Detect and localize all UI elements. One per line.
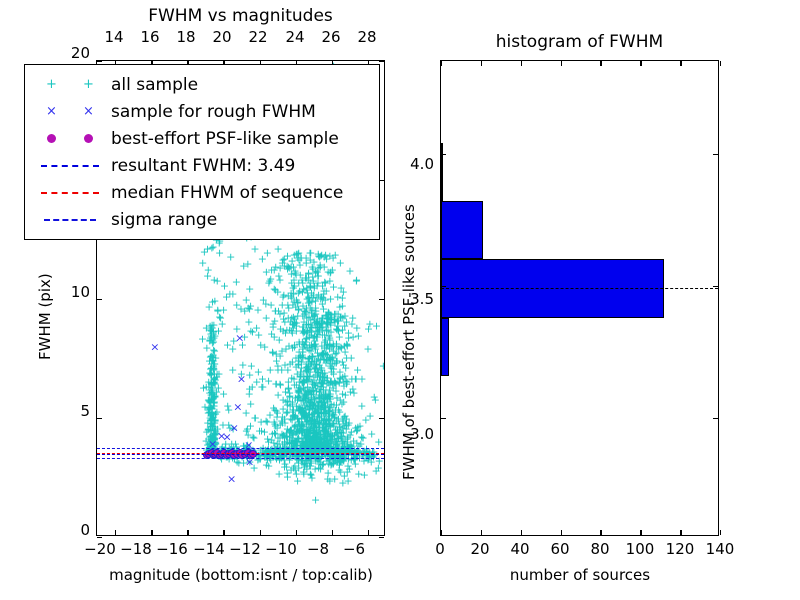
x-ticklabel: 140 xyxy=(701,540,739,558)
scatter-point-all-sample: + xyxy=(282,324,291,335)
y-tick xyxy=(441,154,446,155)
scatter-point-all-sample: + xyxy=(326,355,335,366)
top-ticklabel: 16 xyxy=(136,28,164,46)
scatter-point-all-sample: + xyxy=(339,287,348,298)
scatter-point-all-sample: + xyxy=(205,388,214,399)
scatter-point-all-sample: + xyxy=(294,359,303,370)
scatter-point-all-sample: + xyxy=(243,258,252,269)
left-panel-xlabel: magnitude (bottom:isnt / top:calib) xyxy=(76,566,406,584)
reference-line-dashdot xyxy=(97,458,384,459)
x-tick-top xyxy=(680,61,681,66)
scatter-point-all-sample: + xyxy=(320,277,329,288)
top-ticklabel: 18 xyxy=(172,28,200,46)
scatter-point-all-sample: + xyxy=(316,322,325,333)
top-ticklabel: 24 xyxy=(281,28,309,46)
scatter-point-all-sample: + xyxy=(336,312,345,323)
x-tick xyxy=(332,530,333,535)
scatter-point-all-sample: + xyxy=(335,377,344,388)
x-ticklabel: 60 xyxy=(545,540,575,558)
x-tick xyxy=(720,530,721,535)
scatter-point-all-sample: + xyxy=(232,276,241,287)
top-ticklabel: 20 xyxy=(208,28,236,46)
scatter-point-all-sample: + xyxy=(307,287,316,298)
legend-symbol-dashdot-blue xyxy=(33,219,107,221)
legend-symbol-dot xyxy=(33,134,107,143)
x-tick xyxy=(680,530,681,535)
scatter-point-all-sample: + xyxy=(333,325,342,336)
legend-label: sample for rough FWHM xyxy=(107,102,316,122)
scatter-point-all-sample: + xyxy=(305,248,314,259)
bottom-ticklabel: −8 xyxy=(302,540,334,558)
scatter-point-all-sample: + xyxy=(371,395,380,406)
legend[interactable]: ++ all sample ×× sample for rough FWHM b… xyxy=(24,64,380,240)
top-ticklabel: 26 xyxy=(317,28,345,46)
x-tick xyxy=(600,530,601,535)
top-ticklabel: 28 xyxy=(353,28,381,46)
scatter-point-all-sample: + xyxy=(253,304,262,315)
left-panel-ylabel: FWHM (pix) xyxy=(36,273,54,360)
x-tick xyxy=(115,530,116,535)
scatter-point-all-sample: + xyxy=(248,326,257,337)
scatter-point-all-sample: + xyxy=(203,244,212,255)
scatter-point-all-sample: + xyxy=(307,356,316,367)
left-panel-title: FWHM vs magnitudes xyxy=(96,6,385,26)
histogram-bar xyxy=(441,143,443,201)
y-tick-right xyxy=(379,299,384,300)
x-tick-top xyxy=(521,61,522,66)
legend-symbol-cross: ×× xyxy=(33,105,107,118)
x-tick xyxy=(481,530,482,535)
scatter-point-all-sample: + xyxy=(345,265,354,276)
legend-item-all-sample[interactable]: ++ all sample xyxy=(33,71,369,98)
scatter-point-all-sample: + xyxy=(223,401,232,412)
scatter-point-all-sample: + xyxy=(275,308,284,319)
scatter-point-all-sample: + xyxy=(337,398,346,409)
x-ticklabel: 20 xyxy=(465,540,495,558)
scatter-point-all-sample: + xyxy=(273,287,282,298)
top-ticklabel: 14 xyxy=(100,28,128,46)
x-tick-top xyxy=(720,61,721,66)
scatter-point-all-sample: + xyxy=(245,384,254,395)
legend-item-sigma-range[interactable]: sigma range xyxy=(33,206,369,233)
y-tick xyxy=(441,286,446,287)
scatter-point-all-sample: + xyxy=(347,455,356,466)
scatter-point-rough-fwhm: × xyxy=(237,373,246,384)
x-tick-top xyxy=(561,61,562,66)
reference-line-dashed xyxy=(97,453,384,454)
scatter-point-all-sample: + xyxy=(361,414,370,425)
y-ticklabel: 10 xyxy=(60,283,90,301)
bottom-ticklabel: −16 xyxy=(154,540,190,558)
scatter-point-all-sample: + xyxy=(314,250,323,261)
y-ticklabel: 5 xyxy=(60,402,90,420)
legend-item-rough-fwhm[interactable]: ×× sample for rough FWHM xyxy=(33,98,369,125)
y-tick-right xyxy=(379,537,384,538)
scatter-point-all-sample: + xyxy=(205,302,214,313)
legend-item-median-fwhm[interactable]: median FHWM of sequence xyxy=(33,179,369,206)
bottom-ticklabel: −18 xyxy=(118,540,154,558)
scatter-point-all-sample: + xyxy=(324,308,333,319)
scatter-point-rough-fwhm: × xyxy=(235,333,244,344)
figure-canvas: FWHM vs magnitudes 14 16 18 20 22 24 26 … xyxy=(0,0,800,600)
scatter-point-all-sample: + xyxy=(326,266,335,277)
bottom-ticklabel: −6 xyxy=(338,540,370,558)
y-tick xyxy=(97,418,102,419)
legend-label: best-effort PSF-like sample xyxy=(107,129,339,149)
scatter-point-all-sample: + xyxy=(315,396,324,407)
scatter-point-all-sample: + xyxy=(271,379,280,390)
scatter-point-all-sample: + xyxy=(349,388,358,399)
scatter-point-all-sample: + xyxy=(329,252,338,263)
scatter-point-all-sample: + xyxy=(290,249,299,260)
histogram-bar xyxy=(441,201,483,259)
y-ticklabel: 3.0 xyxy=(400,425,434,443)
legend-symbol-dashed-blue xyxy=(33,165,107,167)
legend-label: median FHWM of sequence xyxy=(107,183,343,203)
scatter-point-all-sample: + xyxy=(257,416,266,427)
scatter-point-all-sample: + xyxy=(202,323,211,334)
right-panel-title: histogram of FWHM xyxy=(440,32,719,52)
scatter-point-all-sample: + xyxy=(263,247,272,258)
scatter-point-all-sample: + xyxy=(302,333,311,344)
x-tick xyxy=(640,530,641,535)
bottom-ticklabel: −10 xyxy=(263,540,299,558)
scatter-point-all-sample: + xyxy=(280,458,289,469)
y-tick xyxy=(97,537,102,538)
x-tick-top xyxy=(481,61,482,66)
x-tick-top xyxy=(640,61,641,66)
x-ticklabel: 100 xyxy=(621,540,659,558)
x-tick xyxy=(187,530,188,535)
scatter-point-all-sample: + xyxy=(297,408,306,419)
scatter-point-all-sample: + xyxy=(295,425,304,436)
scatter-point-all-sample: + xyxy=(226,251,235,262)
y-ticklabel: 4.0 xyxy=(400,155,434,173)
scatter-point-all-sample: + xyxy=(314,424,323,435)
scatter-point-all-sample: + xyxy=(207,419,216,430)
scatter-point-all-sample: + xyxy=(365,318,374,329)
scatter-point-all-sample: + xyxy=(337,342,346,353)
y-ticklabel: 3.5 xyxy=(400,290,434,308)
y-tick xyxy=(97,299,102,300)
reference-line-dashdot xyxy=(97,448,384,449)
scatter-point-all-sample: + xyxy=(286,261,295,272)
scatter-point-all-sample: + xyxy=(214,325,223,336)
top-ticklabel: 22 xyxy=(244,28,272,46)
bottom-ticklabel: −12 xyxy=(227,540,263,558)
scatter-point-all-sample: + xyxy=(308,264,317,275)
bottom-ticklabel: −20 xyxy=(82,540,118,558)
histogram-reference-line xyxy=(441,288,718,289)
y-tick xyxy=(441,418,446,419)
scatter-point-all-sample: + xyxy=(351,374,360,385)
y-ticklabel: 20 xyxy=(60,44,90,62)
x-tick xyxy=(521,530,522,535)
y-tick-right xyxy=(713,286,718,287)
scatter-point-all-sample: + xyxy=(273,364,282,375)
scatter-point-all-sample: + xyxy=(325,384,334,395)
scatter-point-all-sample: + xyxy=(295,286,304,297)
scatter-point-all-sample: + xyxy=(360,470,369,481)
legend-item-resultant-fwhm[interactable]: resultant FWHM: 3.49 xyxy=(33,152,369,179)
legend-item-psf-like[interactable]: best-effort PSF-like sample xyxy=(33,125,369,152)
x-tick-top xyxy=(441,61,442,66)
y-tick-right xyxy=(379,418,384,419)
scatter-point-all-sample: + xyxy=(209,400,218,411)
scatter-point-all-sample: + xyxy=(243,423,252,434)
scatter-point-all-sample: + xyxy=(222,292,231,303)
x-tick xyxy=(260,530,261,535)
scatter-point-all-sample: + xyxy=(267,265,276,276)
scatter-point-all-sample: + xyxy=(311,495,320,506)
y-tick-right xyxy=(713,154,718,155)
scatter-point-all-sample: + xyxy=(228,344,237,355)
y-tick-right xyxy=(713,418,718,419)
legend-symbol-dashed-red xyxy=(33,192,107,194)
scatter-point-all-sample: + xyxy=(289,374,298,385)
x-ticklabel: 40 xyxy=(505,540,535,558)
bottom-ticklabel: −14 xyxy=(191,540,227,558)
scatter-point-all-sample: + xyxy=(379,360,384,371)
scatter-point-all-sample: + xyxy=(210,274,219,285)
x-ticklabel: 120 xyxy=(661,540,699,558)
scatter-point-all-sample: + xyxy=(340,411,349,422)
scatter-point-all-sample: + xyxy=(256,339,265,350)
x-ticklabel: 0 xyxy=(425,540,455,558)
scatter-point-rough-fwhm: × xyxy=(222,432,231,443)
y-ticklabel: 0 xyxy=(60,521,90,539)
y-tick xyxy=(97,61,102,62)
scatter-point-all-sample: + xyxy=(247,361,256,372)
scatter-point-all-sample: + xyxy=(334,465,343,476)
scatter-point-all-sample: + xyxy=(202,342,211,353)
x-ticklabel: 80 xyxy=(585,540,615,558)
x-tick xyxy=(151,530,152,535)
x-tick xyxy=(296,530,297,535)
scatter-point-all-sample: + xyxy=(198,257,207,268)
x-tick-top xyxy=(600,61,601,66)
legend-symbol-plus: ++ xyxy=(33,78,107,91)
scatter-point-all-sample: + xyxy=(310,336,319,347)
right-panel-xlabel: number of sources xyxy=(450,566,710,584)
scatter-point-all-sample: + xyxy=(357,401,366,412)
scatter-point-all-sample: + xyxy=(299,396,308,407)
scatter-point-all-sample: + xyxy=(363,343,372,354)
scatter-point-all-sample: + xyxy=(284,340,293,351)
scatter-point-all-sample: + xyxy=(200,402,209,413)
legend-label: resultant FWHM: 3.49 xyxy=(107,156,295,176)
scatter-point-all-sample: + xyxy=(286,400,295,411)
legend-label: sigma range xyxy=(107,210,217,230)
x-tick xyxy=(441,530,442,535)
histogram-bar xyxy=(441,318,449,376)
x-tick xyxy=(223,530,224,535)
legend-label: all sample xyxy=(107,75,198,95)
scatter-point-all-sample: + xyxy=(277,415,286,426)
scatter-point-all-sample: + xyxy=(371,465,380,476)
scatter-point-rough-fwhm: × xyxy=(227,473,236,484)
scatter-point-all-sample: + xyxy=(343,476,352,487)
x-tick xyxy=(368,530,369,535)
scatter-point-rough-fwhm: × xyxy=(233,402,242,413)
scatter-point-all-sample: + xyxy=(311,370,320,381)
scatter-point-all-sample: + xyxy=(245,304,254,315)
x-tick xyxy=(561,530,562,535)
scatter-point-rough-fwhm: × xyxy=(150,341,159,352)
y-tick-right xyxy=(379,61,384,62)
histogram-axes[interactable] xyxy=(440,60,719,536)
scatter-point-all-sample: + xyxy=(258,374,267,385)
scatter-point-all-sample: + xyxy=(213,305,222,316)
